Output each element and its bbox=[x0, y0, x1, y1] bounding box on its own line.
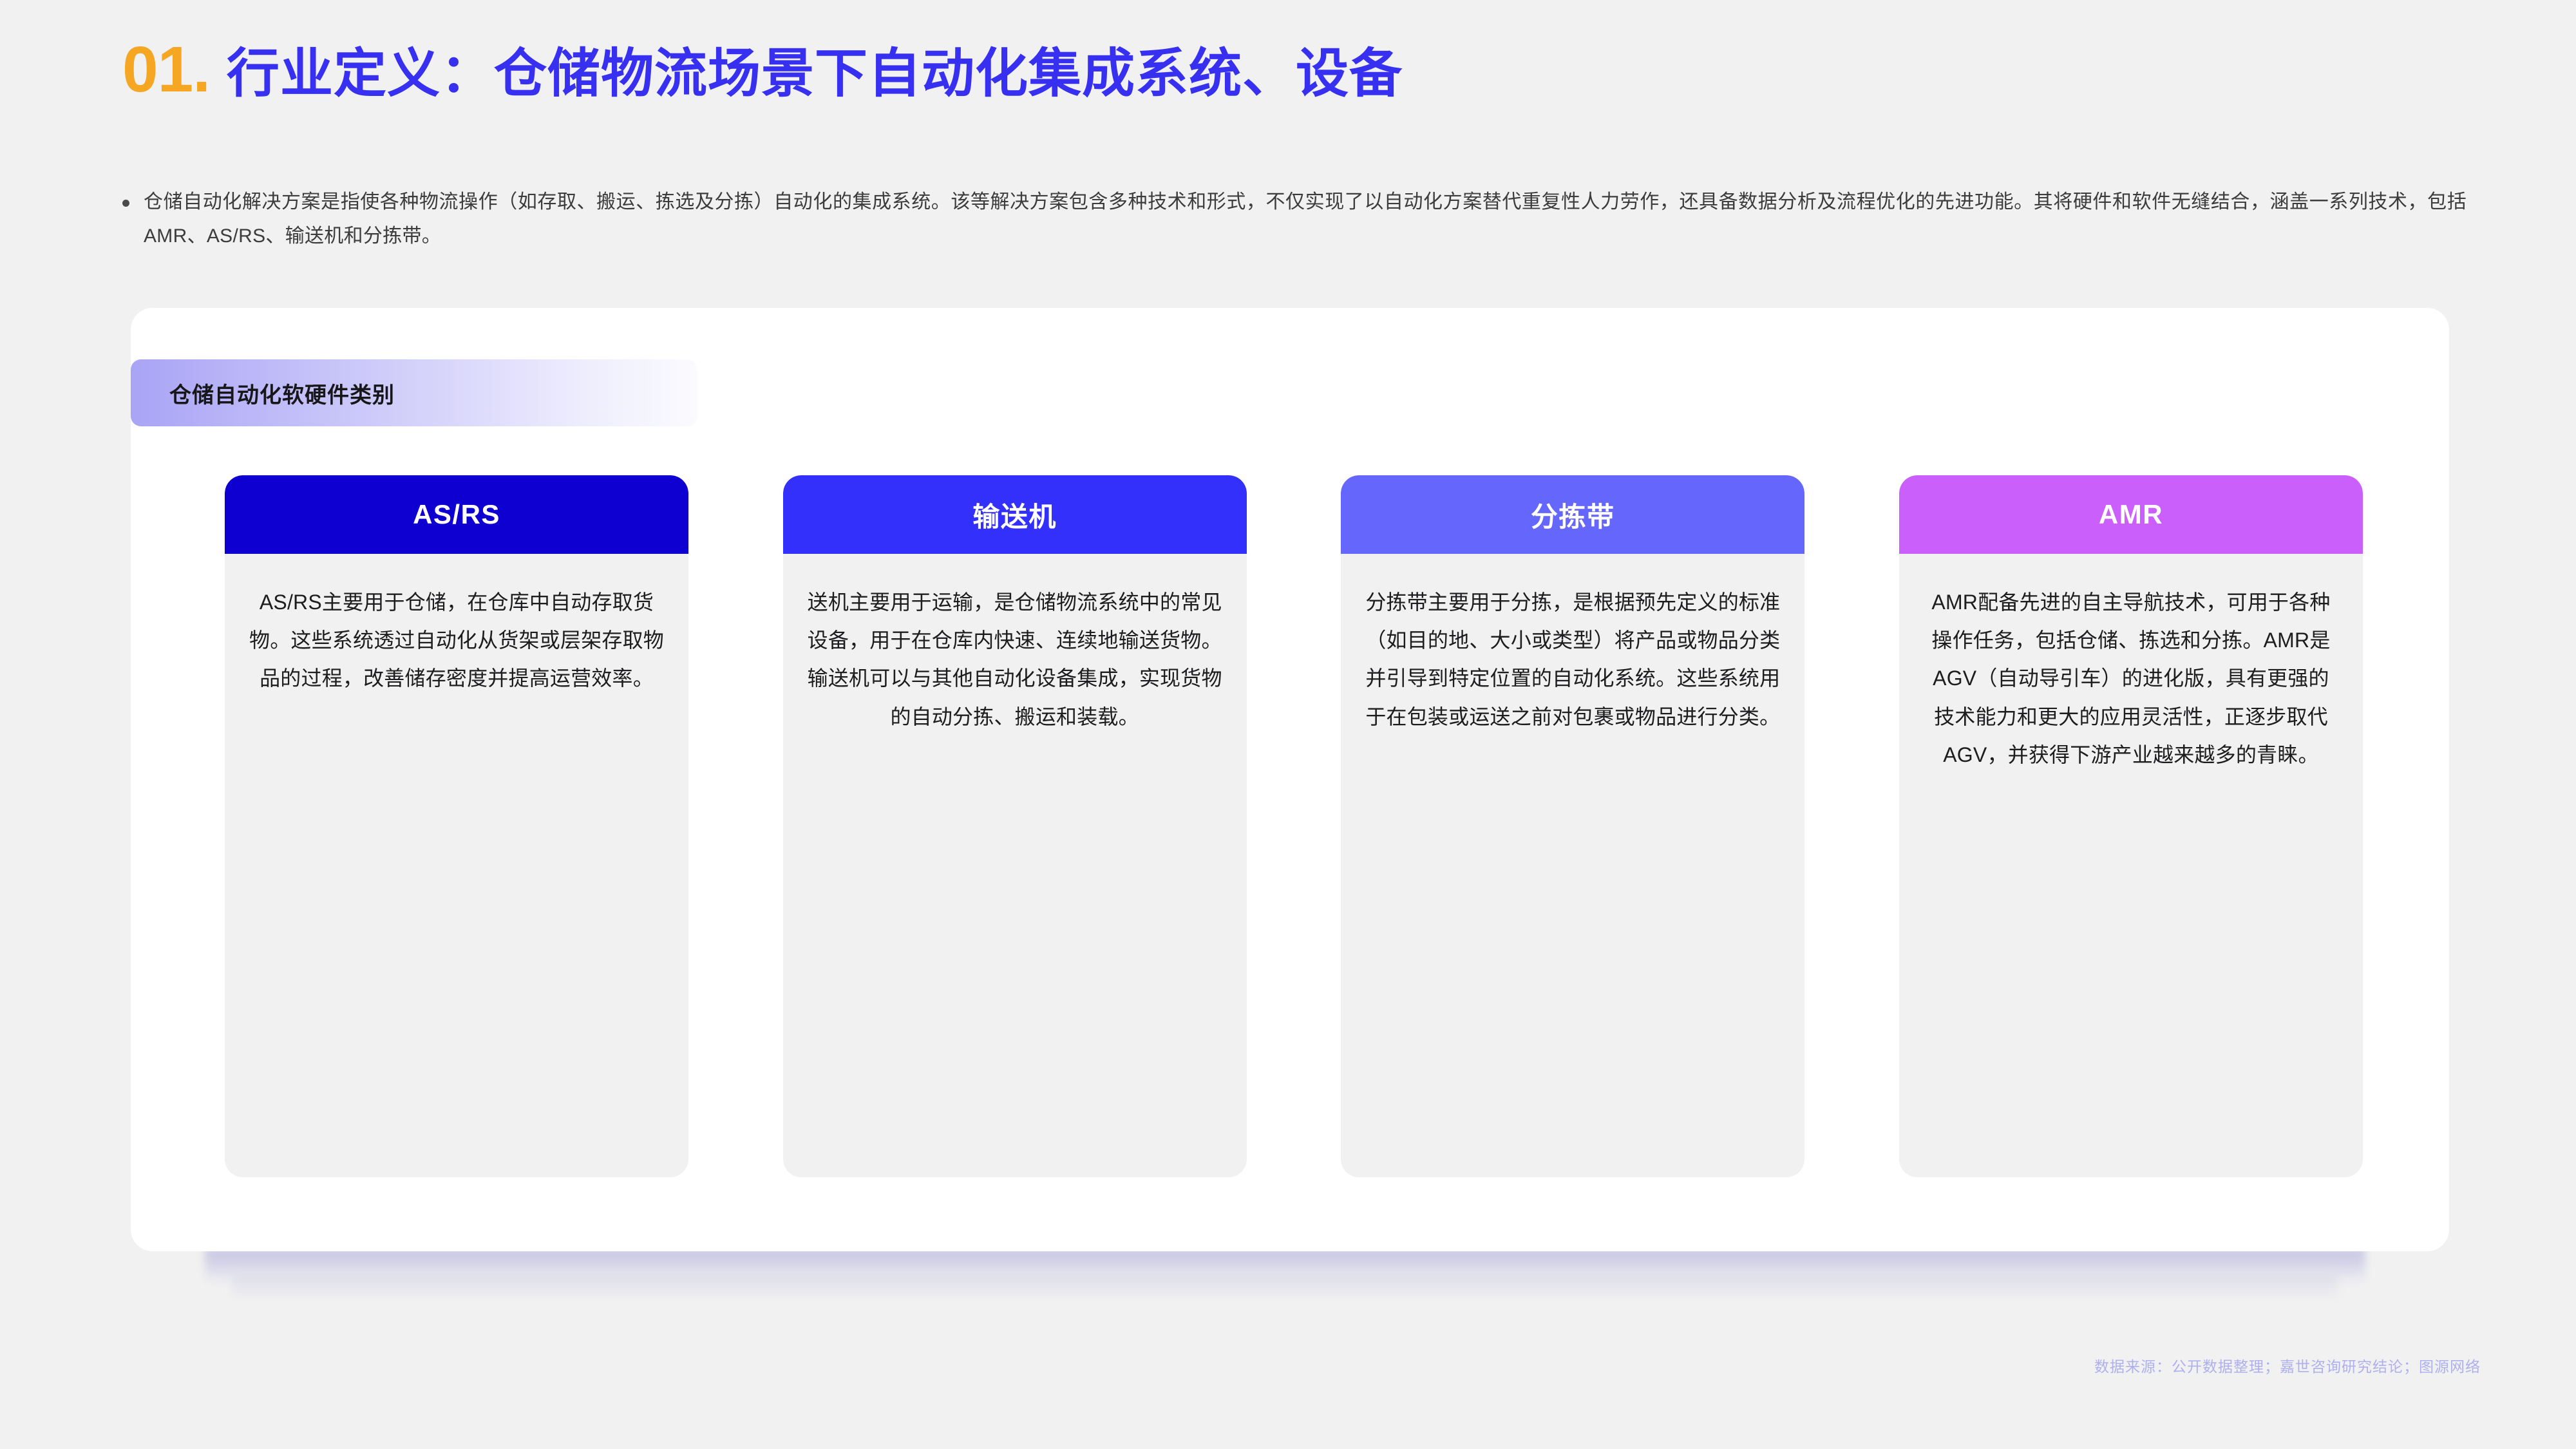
category-card-description: 送机主要用于运输，是仓储物流系统中的常见设备，用于在仓库内快速、连续地输送货物。… bbox=[808, 583, 1222, 736]
category-card-header: 输送机 bbox=[783, 475, 1247, 554]
section-number: 01. bbox=[122, 37, 210, 102]
category-card-description: AS/RS主要用于仓储，在仓库中自动存取货物。这些系统透过自动化从货架或层架存取… bbox=[249, 583, 664, 698]
intro-paragraph: 仓储自动化解决方案是指使各种物流操作（如存取、搬运、拣选及分拣）自动化的集成系统… bbox=[144, 185, 2467, 253]
bullet-dot-icon bbox=[122, 200, 129, 207]
category-chip-label: 仓储自动化软硬件类别 bbox=[169, 377, 395, 409]
category-card-header: 分拣带 bbox=[1341, 475, 1804, 554]
page-title: 行业定义：仓储物流场景下自动化集成系统、设备 bbox=[227, 48, 1403, 100]
data-source-note: 数据来源：公开数据整理；嘉世咨询研究结论；图源网络 bbox=[2094, 1354, 2481, 1376]
category-card-sorter[interactable]: 分拣带 分拣带主要用于分拣，是根据预先定义的标准（如目的地、大小或类型）将产品或… bbox=[1341, 475, 1804, 1177]
category-card-title: AS/RS bbox=[413, 499, 500, 530]
category-card-body: AS/RS主要用于仓储，在仓库中自动存取货物。这些系统透过自动化从货架或层架存取… bbox=[225, 554, 688, 1177]
category-card-header: AMR bbox=[1899, 475, 2363, 554]
category-card-description: 分拣带主要用于分拣，是根据预先定义的标准（如目的地、大小或类型）将产品或物品分类… bbox=[1365, 583, 1780, 736]
category-card-description: AMR配备先进的自主导航技术，可用于各种操作任务，包括仓储、拣选和分拣。AMR是… bbox=[1924, 583, 2338, 774]
category-card-title: 输送机 bbox=[972, 495, 1057, 535]
page-header: 01. 行业定义：仓储物流场景下自动化集成系统、设备 bbox=[122, 37, 1403, 102]
intro-bullet-item: 仓储自动化解决方案是指使各种物流操作（如存取、搬运、拣选及分拣）自动化的集成系统… bbox=[122, 185, 2467, 253]
category-chip: 仓储自动化软硬件类别 bbox=[131, 359, 697, 426]
category-card-body: AMR配备先进的自主导航技术，可用于各种操作任务，包括仓储、拣选和分拣。AMR是… bbox=[1899, 554, 2363, 1177]
category-card-header: AS/RS bbox=[225, 475, 688, 554]
panel-shadow-decoration-secondary bbox=[232, 1272, 2338, 1298]
category-card-title: 分拣带 bbox=[1531, 495, 1615, 535]
category-card-conveyor[interactable]: 输送机 送机主要用于运输，是仓储物流系统中的常见设备，用于在仓库内快速、连续地输… bbox=[783, 475, 1247, 1177]
category-card-title: AMR bbox=[2099, 499, 2163, 530]
category-card-amr[interactable]: AMR AMR配备先进的自主导航技术，可用于各种操作任务，包括仓储、拣选和分拣。… bbox=[1899, 475, 2363, 1177]
content-panel: 仓储自动化软硬件类别 AS/RS AS/RS主要用于仓储，在仓库中自动存取货物。… bbox=[131, 308, 2449, 1251]
category-card-row: AS/RS AS/RS主要用于仓储，在仓库中自动存取货物。这些系统透过自动化从货… bbox=[225, 475, 2363, 1177]
category-card-body: 分拣带主要用于分拣，是根据预先定义的标准（如目的地、大小或类型）将产品或物品分类… bbox=[1341, 554, 1804, 1177]
category-card-body: 送机主要用于运输，是仓储物流系统中的常见设备，用于在仓库内快速、连续地输送货物。… bbox=[783, 554, 1247, 1177]
category-card-asrs[interactable]: AS/RS AS/RS主要用于仓储，在仓库中自动存取货物。这些系统透过自动化从货… bbox=[225, 475, 688, 1177]
